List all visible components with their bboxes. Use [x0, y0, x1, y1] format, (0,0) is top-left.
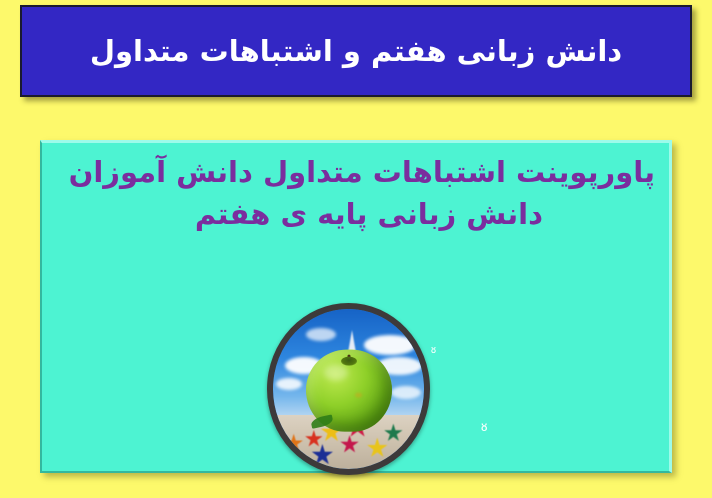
slide-canvas: دانش زبانی هفتم و اشتباهات متداول پاورپو…: [0, 0, 712, 498]
cloud-icon: [364, 335, 416, 355]
header-banner: دانش زبانی هفتم و اشتباهات متداول: [20, 5, 692, 97]
bird-icon: ᴕ: [481, 420, 487, 434]
green-apple-icon: [306, 350, 392, 432]
content-line-1: پاورپوینت اشتباهات متداول دانش آموزان: [56, 151, 655, 193]
apple-photo-circle: [267, 303, 430, 475]
page-title: دانش زبانی هفتم و اشتباهات متداول: [74, 33, 638, 69]
cloud-icon: [276, 378, 302, 390]
content-card: پاورپوینت اشتباهات متداول دانش آموزان دا…: [40, 140, 672, 473]
apple-dimple: [341, 357, 357, 366]
cloud-icon: [391, 386, 421, 399]
apple-highlight: [324, 364, 348, 380]
photo-inner: [273, 309, 424, 469]
content-line-2: دانش زبانی پایه ی هفتم: [56, 193, 655, 235]
content-text-block: پاورپوینت اشتباهات متداول دانش آموزان دا…: [42, 151, 669, 235]
apple-spot: [355, 392, 362, 397]
bird-icon: ᴕ: [431, 344, 436, 355]
